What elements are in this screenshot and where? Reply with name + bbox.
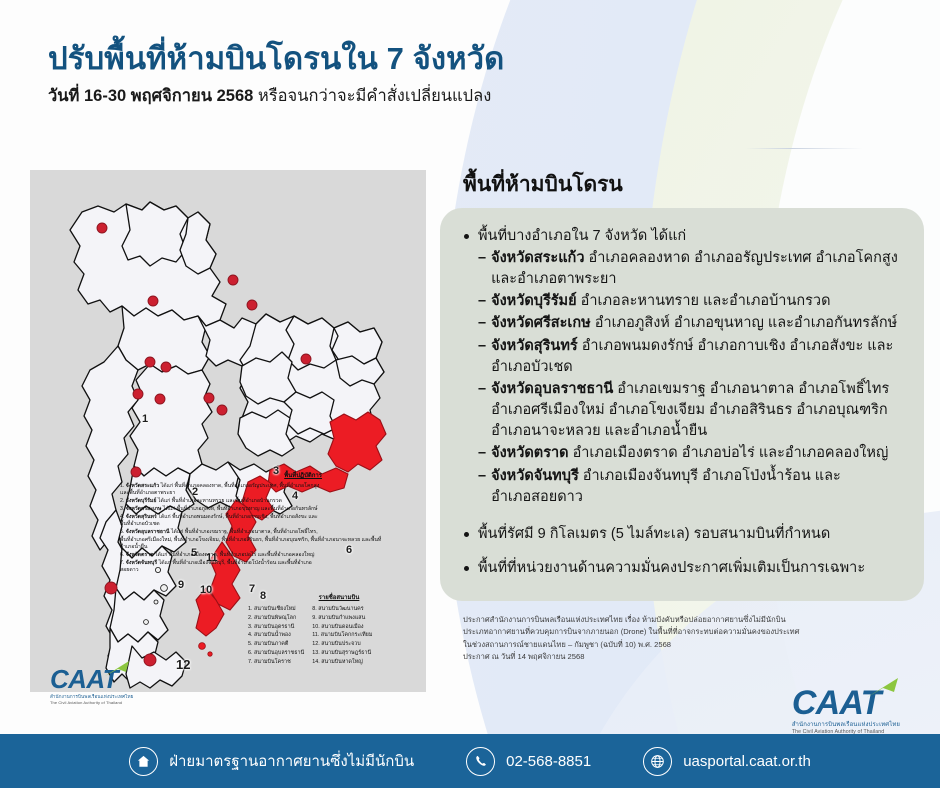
legend-cont: พื้นที่อำเภอศรีเมืองใหม่, พื้นที่อำเภอโข… [120,537,381,550]
province-districts-cont: อำเภอบัวเชด [491,359,573,375]
airport-item: 7. สนามบินโคราช [248,658,304,667]
legend-province: จังหวัดจันทบุรี [126,560,157,566]
legend-cont: พื้นที่อำเภอบัวเชด [120,521,160,527]
province-districts: อำเภอละหานทราย และอำเภอบ้านกรวด [581,293,831,309]
footnote-line: ประกาศ ณ วันที่ 14 พฤศจิกายน 2568 [463,651,915,663]
globe-icon [643,747,672,776]
province-districts: อำเภอพนมดงรักษ์ อำเภอกาบเชิง อำเภอสังขะ … [582,338,894,354]
spacer [458,508,906,524]
province-item: – จังหวัดอุบลราชธานี อำเภอเขมราฐ อำเภอนา… [478,379,906,442]
panel-heading: พื้นที่ห้ามบินโดรน [463,172,623,197]
bullet-dot-icon [464,234,469,239]
legend-rest: ได้แก่ พื้นที่อำเภอเมืองตราด, พื้นที่อำเ… [155,552,314,558]
province-districts: อำเภอเมืองจันทบุรี อำเภอโป่งน้ำร้อน และ [583,468,841,484]
map-legend-item: 2. จังหวัดบุรีรัมย์ ได้แก่ พื้นที่อำเภอล… [120,498,388,505]
map-legend-title: พื้นที่ปฏิบัติการ [120,470,388,480]
province-name: จังหวัดศรีสะเกษ [491,315,591,331]
province-name: จังหวัดตราด [491,445,568,461]
airport-item: 10. สนามบินดอนเมือง [312,623,372,632]
map-marker-label: 9 [178,579,184,591]
dash-marker: – [478,336,486,357]
bullet-text: พื้นที่บางอำเภอใน 7 จังหวัด ได้แก่ [478,226,686,247]
map-marker-label: 12 [176,657,190,672]
airport-legend-col-1: 1. สนามบินเชียงใหม่ 2. สนามบินพิษณุโลก 3… [248,605,304,666]
province-text: จังหวัดจันทบุรี อำเภอเมืองจันทบุรี อำเภอ… [491,466,841,508]
map-legend-item: 7. จังหวัดจันทบุรี ได้แก่ พื้นที่อำเภอเม… [120,560,388,575]
bullet-dot-icon [464,532,469,537]
footnote-line: ประกาศสำนักงานการบินพลเรือนแห่งประเทศไทย… [463,614,915,626]
page-subtitle: วันที่ 16-30 พฤศจิกายน 2568 หรือจนกว่าจะ… [48,86,768,107]
legend-rest: ได้แก่ พื้นที่อำเภอเขมราฐ, พื้นที่อำเภอน… [171,529,318,535]
legend-cont: และพื้นที่อำเภอตาพระยา [120,490,175,496]
legend-province: จังหวัดศรีสะเกษ [126,506,162,512]
footnote-line: ในช่วงสถานการณ์ชายแดนไทย – กัมพูชา (ฉบับ… [463,639,915,651]
airport-legend-columns: 1. สนามบินเชียงใหม่ 2. สนามบินพิษณุโลก 3… [248,605,430,666]
dash-marker: – [478,248,486,269]
dash-marker: – [478,379,486,400]
legend-province: จังหวัดบุรีรัมย์ [126,498,157,504]
airport-item: 3. สนามบินอุดรธานี [248,623,304,632]
legend-num: 3. [120,506,124,512]
province-item: – จังหวัดตราด อำเภอเมืองตราด อำเภอบ่อไร่… [478,443,906,464]
logo-subtitle-th: สำนักงานการบินพลเรือนแห่งประเทศไทย [792,721,900,729]
airport-legend-col-2: 8. สนามบินวัฒนานคร 9. สนามบินกำแพงแสน 10… [312,605,372,666]
bullet-item-security-areas: พื้นที่ที่หน่วยงานด้านความมั่นคงประกาศเพ… [458,558,906,579]
bullet-row: พื้นที่รัศมี 9 กิโลเมตร (5 ไมล์ทะเล) รอบ… [458,524,906,545]
legend-rest: ได้แก่ พื้นที่อำเภอพนมดงรักษ์, พื้นที่อำ… [158,514,317,520]
poster-header: ปรับพื้นที่ห้ามบินโดรนใน 7 จังหวัด วันที… [48,40,768,107]
footer-website[interactable]: uasportal.caat.or.th [643,747,811,776]
map-airport-legend: รายชื่อสนามบิน 1. สนามบินเชียงใหม่ 2. สน… [248,592,430,666]
province-name: จังหวัดบุรีรัมย์ [491,293,577,309]
footer-department-label: ฝ่ายมาตรฐานอากาศยานซึ่งไม่มีนักบิน [169,754,414,769]
province-districts: อำเภอคลองหาด อำเภออรัญประเทศ อำเภอโคกสูง [589,250,898,266]
legend-num: 2. [120,498,124,504]
airport-item: 13. สนามบินสุราษฎร์ธานี [312,649,372,658]
province-name: จังหวัดอุบลราชธานี [491,381,613,397]
airport-item: 5. สนามบินภาคตี [248,640,304,649]
footer-phone[interactable]: 02-568-8851 [466,747,591,776]
home-icon [129,747,158,776]
subtitle-date: วันที่ 16-30 พฤศจิกายน 2568 [48,87,253,105]
map-legend-item: 3. จังหวัดศรีสะเกษ ได้แก่ พื้นที่อำเภอภู… [120,506,388,513]
page-title: ปรับพื้นที่ห้ามบินโดรนใน 7 จังหวัด [48,40,768,77]
dash-marker: – [478,291,486,312]
province-name: จังหวัดสุรินทร์ [491,338,578,354]
dash-marker: – [478,466,486,487]
airport-item: 4. สนามบินน้ำพอง [248,631,304,640]
bullet-row: พื้นที่บางอำเภอใน 7 จังหวัด ได้แก่ [458,226,906,247]
province-name: จังหวัดสระแก้ว [491,250,584,266]
province-item: – จังหวัดศรีสะเกษ อำเภอภูสิงห์ อำเภอขุนห… [478,313,906,334]
spacer [458,545,906,558]
province-text: จังหวัดบุรีรัมย์ อำเภอละหานทราย และอำเภอ… [491,291,830,312]
map-legend-item: 1. จังหวัดสระแก้ว ได้แก่ พื้นที่อำเภอคลอ… [120,483,388,498]
province-districts-cont: อำเภอศรีเมืองใหม่ อำเภอโขงเจียม อำเภอสิร… [491,402,888,418]
legend-province: จังหวัดสระแก้ว [126,483,159,489]
map-marker-label: 1 [142,413,148,425]
decorative-hairline [745,148,863,149]
legend-rest: ได้แก่ พื้นที่อำเภอคลองหาด, พื้นที่อำเภอ… [161,483,320,489]
province-item: – จังหวัดสระแก้ว อำเภอคลองหาด อำเภออรัญป… [478,248,906,290]
map-legend-item: 5. จังหวัดอุบลราชธานี ได้แก่ พื้นที่อำเภ… [120,529,388,551]
bullet-row: พื้นที่ที่หน่วยงานด้านความมั่นคงประกาศเพ… [458,558,906,579]
airport-legend-title: รายชื่อสนามบิน [248,592,430,602]
bullet-text: พื้นที่ที่หน่วยงานด้านความมั่นคงประกาศเพ… [478,558,865,579]
province-text: จังหวัดอุบลราชธานี อำเภอเขมราฐ อำเภอนาตา… [491,379,889,442]
legend-num: 4. [120,514,124,520]
legend-num: 6. [120,552,124,558]
no-fly-zone-panel: พื้นที่บางอำเภอใน 7 จังหวัด ได้แก่ – จัง… [440,208,924,601]
province-text: จังหวัดสระแก้ว อำเภอคลองหาด อำเภออรัญประ… [491,248,898,290]
footer-department: ฝ่ายมาตรฐานอากาศยานซึ่งไม่มีนักบิน [129,747,414,776]
airport-item: 12. สนามบินประจวบ [312,640,372,649]
legend-province: จังหวัดอุบลราชธานี [126,529,170,535]
logo-swoosh-icon [865,678,899,699]
province-text: จังหวัดสุรินทร์ อำเภอพนมดงรักษ์ อำเภอกาบ… [491,336,893,378]
province-districts-cont2: อำเภอนาจะหลวย และอำเภอน้ำยืน [491,423,707,439]
province-text: จังหวัดตราด อำเภอเมืองตราด อำเภอบ่อไร่ แ… [491,443,888,464]
dash-marker: – [478,443,486,464]
province-name: จังหวัดจันทบุรี [491,468,579,484]
legend-num: 5. [120,529,124,535]
footer-website-url[interactable]: uasportal.caat.or.th [683,754,811,769]
legend-rest: ได้แก่ พื้นที่อำเภอเมืองจันทบุรี, พื้นที… [159,560,312,566]
legend-province: จังหวัดตราด [126,552,154,558]
bullet-item-provinces: พื้นที่บางอำเภอใน 7 จังหวัด ได้แก่ – จัง… [458,226,906,508]
map-marker-label: 10 [200,584,212,596]
airport-item: 9. สนามบินกำแพงแสน [312,614,372,623]
legend-cont: สอยดาว [120,567,139,573]
phone-icon [466,747,495,776]
subtitle-note: หรือจนกว่าจะมีคำสั่งเปลี่ยนแปลง [258,87,491,105]
bullet-text: พื้นที่รัศมี 9 กิโลเมตร (5 ไมล์ทะเล) รอบ… [478,524,830,545]
province-text: จังหวัดศรีสะเกษ อำเภอภูสิงห์ อำเภอขุนหาญ… [491,313,897,334]
airport-item: 14. สนามบินหาดใหญ่ [312,658,372,667]
province-districts-cont: และอำเภอตาพระยา [491,271,616,287]
province-districts: อำเภอเขมราฐ อำเภอนาตาล อำเภอโพธิ์ไทร [617,381,889,397]
caat-logo-map: CAAT สำนักงานการบินพลเรือนแห่งประเทศไทย … [50,666,133,706]
logo-wordmark-wrap: CAAT [792,686,881,720]
airport-item: 1. สนามบินเชียงใหม่ [248,605,304,614]
province-districts-cont: อำเภอสอยดาว [491,489,583,505]
legend-num: 7. [120,560,124,566]
province-districts: อำเภอภูสิงห์ อำเภอขุนหาญ และอำเภอกันทรลั… [595,315,897,331]
province-item: – จังหวัดสุรินทร์ อำเภอพนมดงรักษ์ อำเภอก… [478,336,906,378]
no-fly-bullet-list: พื้นที่บางอำเภอใน 7 จังหวัด ได้แก่ – จัง… [458,226,906,579]
legend-rest: ได้แก่ พื้นที่อำเภอละหานทราย และพื้นที่อ… [158,498,282,504]
legend-rest: ได้แก่ พื้นที่อำเภอภูสิงห์, พื้นที่อำเภอ… [163,506,318,512]
airport-item: 8. สนามบินวัฒนานคร [312,605,372,614]
province-item: – จังหวัดจันทบุรี อำเภอเมืองจันทบุรี อำเ… [478,466,906,508]
legend-num: 1. [120,483,124,489]
footer-phone-number[interactable]: 02-568-8851 [506,754,591,769]
airport-item: 6. สนามบินอุบลราชธานี [248,649,304,658]
province-sublist: – จังหวัดสระแก้ว อำเภอคลองหาด อำเภออรัญป… [478,248,906,508]
bullet-dot-icon [464,566,469,571]
province-districts: อำเภอเมืองตราด อำเภอบ่อไร่ และอำเภอคลองใ… [573,445,889,461]
infographic-poster: ปรับพื้นที่ห้ามบินโดรนใน 7 จังหวัด วันที… [0,0,940,788]
map-province-legend: พื้นที่ปฏิบัติการ 1. จังหวัดสระแก้ว ได้แ… [120,470,388,575]
logo-swoosh-icon [104,661,130,677]
map-legend-item: 4. จังหวัดสุรินทร์ ได้แก่ พื้นที่อำเภอพน… [120,514,388,529]
contact-footer-bar: ฝ่ายมาตรฐานอากาศยานซึ่งไม่มีนักบิน 02-56… [0,734,940,788]
province-item: – จังหวัดบุรีรัมย์ อำเภอละหานทราย และอำเ… [478,291,906,312]
airport-item: 11. สนามบินโคกกระเทียม [312,631,372,640]
legend-province: จังหวัดสุรินทร์ [126,514,157,520]
map-legend-item: 6. จังหวัดตราด ได้แก่ พื้นที่อำเภอเมืองต… [120,552,388,559]
bullet-item-airport-radius: พื้นที่รัศมี 9 กิโลเมตร (5 ไมล์ทะเล) รอบ… [458,524,906,545]
logo-subtitle-en: The Civil Aviation Authority of Thailand [50,700,133,705]
caat-logo-main: CAAT สำนักงานการบินพลเรือนแห่งประเทศไทย … [792,686,900,736]
dash-marker: – [478,313,486,334]
logo-wordmark-wrap: CAAT [50,666,118,692]
footnote-line: ประเภทอากาศยานที่ควบคุมการบินจากภายนอก (… [463,626,915,638]
map-legend-list: 1. จังหวัดสระแก้ว ได้แก่ พื้นที่อำเภอคลอ… [120,483,388,575]
airport-item: 2. สนามบินพิษณุโลก [248,614,304,623]
announcement-footnote: ประกาศสำนักงานการบินพลเรือนแห่งประเทศไทย… [463,614,915,663]
